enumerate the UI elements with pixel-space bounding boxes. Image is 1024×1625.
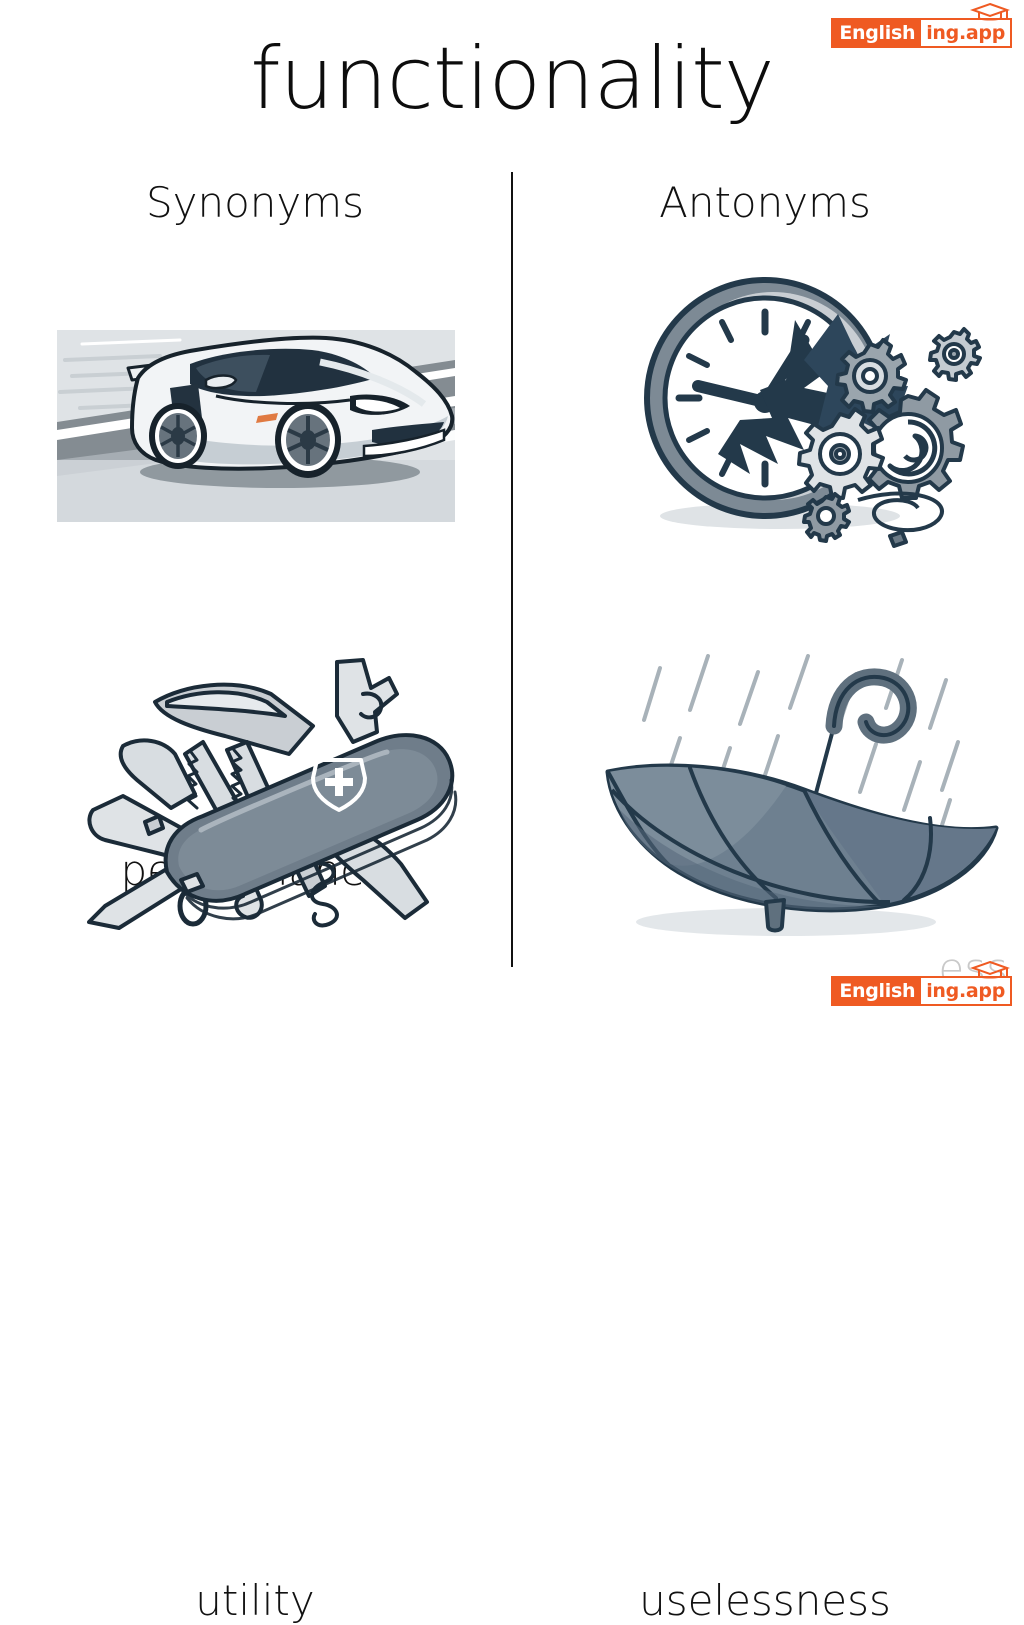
entry-utility: utility xyxy=(20,640,490,980)
sports-car-illustration xyxy=(20,300,490,540)
watermark-part-b: ing.app xyxy=(921,978,1010,1004)
entry-performance: performance xyxy=(20,300,490,600)
flashcard-page: functionality Synonyms Antonyms xyxy=(0,0,1024,1024)
graduation-cap-icon xyxy=(970,2,1010,22)
broken-clock-gears-illustration xyxy=(590,268,1024,558)
caption-uselessness: uselessness xyxy=(530,1580,1000,1622)
watermark-part-a: English xyxy=(833,20,921,46)
watermark-part-b: ing.app xyxy=(921,20,1010,46)
graduation-cap-icon xyxy=(970,960,1010,980)
upturned-umbrella-rain-illustration xyxy=(590,650,1024,940)
synonyms-heading: Synonyms xyxy=(20,182,490,224)
antonyms-heading: Antonyms xyxy=(530,182,1000,224)
watermark-top[interactable]: English ing.app xyxy=(831,18,1012,48)
caption-utility: utility xyxy=(20,1580,490,1622)
entry-uselessness: uselessness xyxy=(530,640,1000,980)
watermark-part-a: English xyxy=(833,978,921,1004)
entry-dysfunction: dysfunction xyxy=(530,258,1000,600)
watermark-bottom[interactable]: English ing.app xyxy=(831,976,1012,1006)
swiss-army-knife-illustration xyxy=(75,650,545,940)
